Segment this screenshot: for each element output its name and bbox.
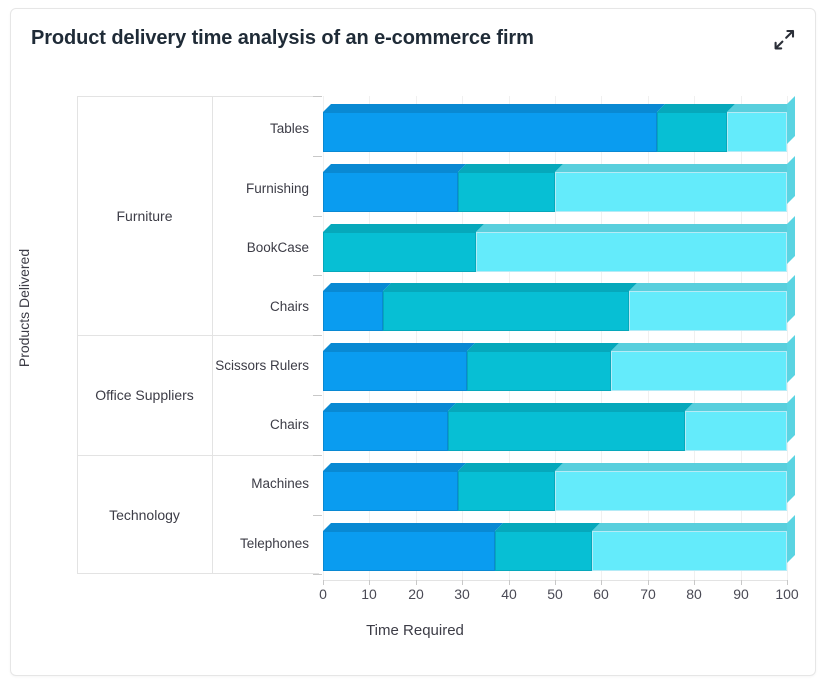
segment-top — [555, 463, 795, 471]
segment-face — [476, 232, 787, 272]
segment-side — [787, 455, 795, 503]
segment-face — [685, 411, 787, 451]
category-label-furnishing: Furnishing — [129, 181, 319, 196]
bar-segment-3[interactable] — [629, 291, 787, 331]
bar-telephones-7[interactable] — [323, 523, 787, 563]
segment-face — [458, 172, 555, 212]
segment-face — [323, 172, 458, 212]
xtick-mark-40 — [509, 580, 510, 585]
segment-top — [467, 343, 619, 351]
bar-segment-3[interactable] — [592, 531, 787, 571]
segment-face — [629, 291, 787, 331]
segment-face — [657, 112, 727, 152]
category-label-7-wrap: Telephones — [120, 536, 319, 556]
segment-top — [611, 343, 795, 351]
segment-top — [323, 104, 665, 112]
y-axis-label: Products Delivered — [16, 228, 32, 388]
segment-face — [495, 531, 592, 571]
bar-bookcase-2[interactable] — [323, 224, 787, 264]
category-label-0-wrap: Tables — [120, 121, 319, 141]
bar-segment-1[interactable] — [323, 471, 458, 511]
category-label-bookcase: BookCase — [129, 240, 319, 255]
bar-segment-3[interactable] — [727, 112, 787, 152]
bar-scissors-rulers-4[interactable] — [323, 343, 787, 383]
group-label-technology: Technology — [77, 455, 212, 574]
ytick-mark-4 — [313, 335, 322, 336]
bar-segment-3[interactable] — [685, 411, 787, 451]
segment-face — [323, 531, 495, 571]
bar-segment-2[interactable] — [383, 291, 629, 331]
xtick-mark-70 — [648, 580, 649, 585]
segment-side — [787, 335, 795, 383]
segment-top — [323, 343, 475, 351]
ytick-mark-1 — [313, 156, 322, 157]
segment-face — [323, 471, 458, 511]
category-label-6-wrap: Machines — [120, 476, 319, 496]
category-label-3-wrap: Chairs — [120, 299, 319, 319]
xtick-mark-30 — [462, 580, 463, 585]
bar-chairs-5[interactable] — [323, 403, 787, 443]
segment-top — [685, 403, 795, 411]
bar-segment-1[interactable] — [323, 411, 448, 451]
ytick-mark-7 — [313, 515, 322, 516]
bar-segment-1[interactable] — [323, 351, 467, 391]
segment-face — [323, 232, 476, 272]
xtick-label-60: 60 — [581, 586, 621, 602]
segment-top — [458, 164, 563, 172]
segment-top — [383, 283, 637, 291]
segment-top — [495, 523, 600, 531]
segment-face — [458, 471, 555, 511]
xtick-mark-0 — [323, 580, 324, 585]
xtick-label-40: 40 — [489, 586, 529, 602]
segment-face — [467, 351, 611, 391]
xtick-label-50: 50 — [535, 586, 575, 602]
segment-top — [727, 104, 795, 112]
segment-top — [448, 403, 693, 411]
xtick-label-10: 10 — [349, 586, 389, 602]
category-label-tables: Tables — [129, 121, 319, 136]
segment-face — [383, 291, 629, 331]
segment-side — [787, 275, 795, 323]
xtick-label-20: 20 — [396, 586, 436, 602]
bar-segment-2[interactable] — [458, 172, 555, 212]
category-label-1-wrap: Furnishing — [120, 181, 319, 201]
segment-face — [592, 531, 787, 571]
group-label-office-suppliers: Office Suppliers — [77, 335, 212, 455]
category-label-2-wrap: BookCase — [120, 240, 319, 260]
xtick-mark-10 — [369, 580, 370, 585]
bar-segment-2[interactable] — [495, 531, 592, 571]
ytick-mark-5 — [313, 395, 322, 396]
xtick-label-100: 100 — [767, 586, 807, 602]
bar-furnishing-1[interactable] — [323, 164, 787, 204]
bar-tables-0[interactable] — [323, 104, 787, 144]
segment-face — [727, 112, 787, 152]
segment-top — [555, 164, 795, 172]
xtick-mark-60 — [601, 580, 602, 585]
category-label-telephones: Telephones — [129, 536, 319, 551]
bar-segment-3[interactable] — [555, 471, 787, 511]
category-label-5-wrap: Chairs — [120, 417, 319, 437]
ytick-mark-8 — [313, 574, 322, 575]
segment-top — [323, 164, 466, 172]
category-label-4-wrap: Scissors Rulers — [120, 358, 319, 378]
category-label-chairs-office: Chairs — [129, 417, 319, 432]
bar-segment-2[interactable] — [448, 411, 685, 451]
xtick-label-80: 80 — [674, 586, 714, 602]
bar-segment-1[interactable] — [323, 172, 458, 212]
segment-top — [476, 224, 795, 232]
xtick-label-70: 70 — [628, 586, 668, 602]
segment-face — [323, 351, 467, 391]
segment-top — [657, 104, 735, 112]
bar-segment-3[interactable] — [555, 172, 787, 212]
category-label-chairs-furniture: Chairs — [129, 299, 319, 314]
category-label-machines: Machines — [129, 476, 319, 491]
bar-segment-1[interactable] — [323, 531, 495, 571]
segment-top — [323, 283, 391, 291]
bar-segment-1[interactable] — [323, 291, 383, 331]
ytick-mark-2 — [313, 216, 322, 217]
bar-segment-1[interactable] — [323, 112, 657, 152]
segment-face — [323, 291, 383, 331]
segment-top — [323, 403, 456, 411]
xtick-label-0: 0 — [303, 586, 343, 602]
segment-top — [458, 463, 563, 471]
xtick-mark-80 — [694, 580, 695, 585]
bar-segment-2[interactable] — [458, 471, 555, 511]
category-label-scissors-rulers: Scissors Rulers — [129, 358, 319, 373]
plot-area: Products Delivered Time Required Furnitu… — [0, 0, 829, 688]
segment-face — [323, 112, 657, 152]
segment-face — [323, 411, 448, 451]
chart-page: Product delivery time analysis of an e-c… — [0, 0, 829, 688]
ytick-mark-0 — [313, 96, 322, 97]
segment-top — [323, 463, 466, 471]
xtick-label-30: 30 — [442, 586, 482, 602]
xtick-mark-20 — [416, 580, 417, 585]
segment-face — [611, 351, 787, 391]
xtick-mark-100 — [787, 580, 788, 585]
segment-face — [448, 411, 685, 451]
x-axis-label: Time Required — [323, 622, 507, 639]
segment-side — [787, 156, 795, 204]
segment-face — [555, 172, 787, 212]
bar-segment-2[interactable] — [467, 351, 611, 391]
bar-segment-2[interactable] — [323, 232, 476, 272]
xtick-mark-90 — [741, 580, 742, 585]
bar-segment-3[interactable] — [476, 232, 787, 272]
segment-top — [323, 523, 503, 531]
ytick-mark-3 — [313, 275, 322, 276]
bar-segment-3[interactable] — [611, 351, 787, 391]
segment-top — [629, 283, 795, 291]
xtick-mark-50 — [555, 580, 556, 585]
bar-segment-2[interactable] — [657, 112, 727, 152]
xtick-label-90: 90 — [721, 586, 761, 602]
bar-machines-6[interactable] — [323, 463, 787, 503]
segment-side — [787, 96, 795, 144]
bar-chairs-3[interactable] — [323, 283, 787, 323]
segment-top — [592, 523, 795, 531]
segment-face — [555, 471, 787, 511]
segment-side — [787, 515, 795, 563]
segment-side — [787, 395, 795, 443]
segment-side — [787, 216, 795, 264]
ytick-mark-6 — [313, 455, 322, 456]
segment-top — [323, 224, 484, 232]
